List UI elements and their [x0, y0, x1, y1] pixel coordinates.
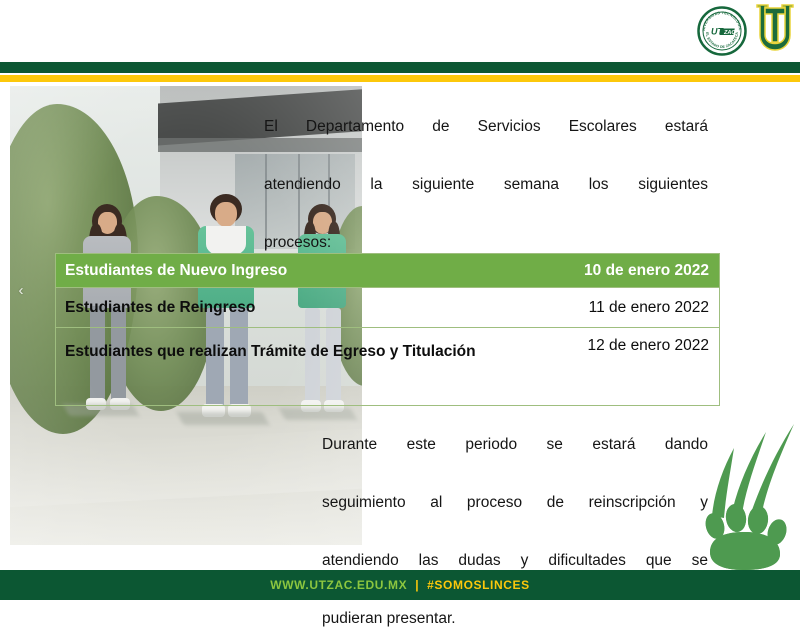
carousel-prev-icon[interactable]: ‹ [12, 280, 30, 302]
footer-hashtag: #SOMOSLINCES [427, 578, 530, 592]
footer-content: WWW.UTZAC.EDU.MX | #SOMOSLINCES [0, 570, 800, 600]
table-header-date: 10 de enero 2022 [494, 262, 719, 280]
svg-text:ZAC: ZAC [723, 30, 736, 36]
table-row: Estudiantes de Reingreso 11 de enero 202… [56, 287, 719, 327]
footer-website-url[interactable]: WWW.UTZAC.EDU.MX [270, 578, 407, 592]
table-header-row: Estudiantes de Nuevo Ingreso 10 de enero… [56, 254, 719, 287]
table-cell-process: Estudiantes que realizan Trámite de Egre… [56, 328, 494, 366]
table-cell-process: Estudiantes de Reingreso [56, 299, 494, 317]
intro-line-1: El Departamento de Servicios Escolares e… [264, 112, 708, 170]
header-yellow-rule [0, 75, 800, 82]
closing-paragraph: Durante este periodo se estará dando seg… [322, 430, 708, 633]
ut-monogram-logo [752, 3, 798, 56]
table-cell-date: 11 de enero 2022 [494, 299, 719, 317]
closing-line-4: pudieran presentar. [322, 604, 708, 633]
closing-line-2: seguimiento al proceso de reinscripción … [322, 488, 708, 546]
lynx-paw-icon [690, 412, 800, 570]
intro-paragraph: El Departamento de Servicios Escolares e… [264, 112, 708, 257]
footer-separator: | [415, 578, 419, 592]
slide-canvas: UNIVERSIDAD TECNOLÓGICA DEL ESTADO DE ZA… [0, 0, 800, 600]
intro-line-2: atendiendo la siguiente semana los sigui… [264, 170, 708, 228]
header-green-rule [0, 62, 800, 73]
table-header-process: Estudiantes de Nuevo Ingreso [56, 262, 494, 280]
schedule-table: Estudiantes de Nuevo Ingreso 10 de enero… [55, 253, 720, 406]
logo-bar: UNIVERSIDAD TECNOLÓGICA DEL ESTADO DE ZA… [0, 0, 800, 62]
closing-line-1: Durante este periodo se estará dando [322, 430, 708, 488]
table-row: Estudiantes que realizan Trámite de Egre… [56, 327, 719, 405]
table-cell-date: 12 de enero 2022 [494, 328, 719, 355]
utzac-seal-logo: UNIVERSIDAD TECNOLÓGICA DEL ESTADO DE ZA… [697, 6, 747, 56]
